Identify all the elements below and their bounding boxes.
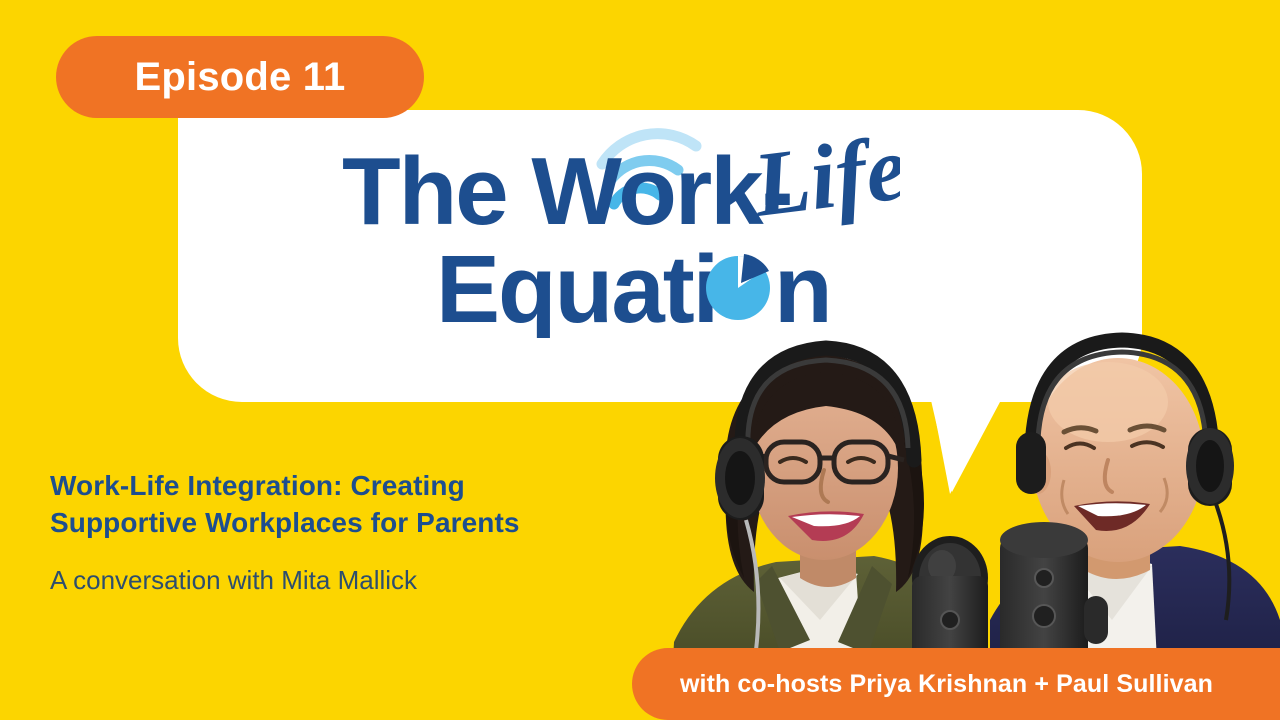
- episode-title-line-1: Work-Life Integration: Creating: [50, 468, 650, 505]
- episode-cover-canvas: Episode 11 The Work- Life Equati n: [0, 0, 1280, 720]
- episode-subtitle: A conversation with Mita Mallick: [50, 564, 650, 598]
- logo-word-life: Life: [747, 116, 900, 236]
- logo-line-2-part-b: n: [774, 236, 831, 338]
- episode-title: Work-Life Integration: Creating Supporti…: [50, 468, 650, 542]
- cohosts-banner: with co-hosts Priya Krishnan + Paul Sull…: [632, 648, 1280, 720]
- logo-line-1: The Work-: [342, 138, 792, 245]
- episode-copy-block: Work-Life Integration: Creating Supporti…: [50, 468, 650, 598]
- podcast-logo: The Work- Life Equati n: [340, 116, 900, 338]
- cohosts-label: with co-hosts Priya Krishnan + Paul Sull…: [680, 670, 1213, 699]
- logo-line-2-part-a: Equati: [436, 236, 717, 338]
- episode-badge-label: Episode 11: [135, 57, 346, 97]
- podcast-logo-art: The Work- Life Equati n: [340, 116, 900, 338]
- episode-badge: Episode 11: [56, 36, 424, 118]
- episode-title-line-2: Supportive Workplaces for Parents: [50, 505, 650, 542]
